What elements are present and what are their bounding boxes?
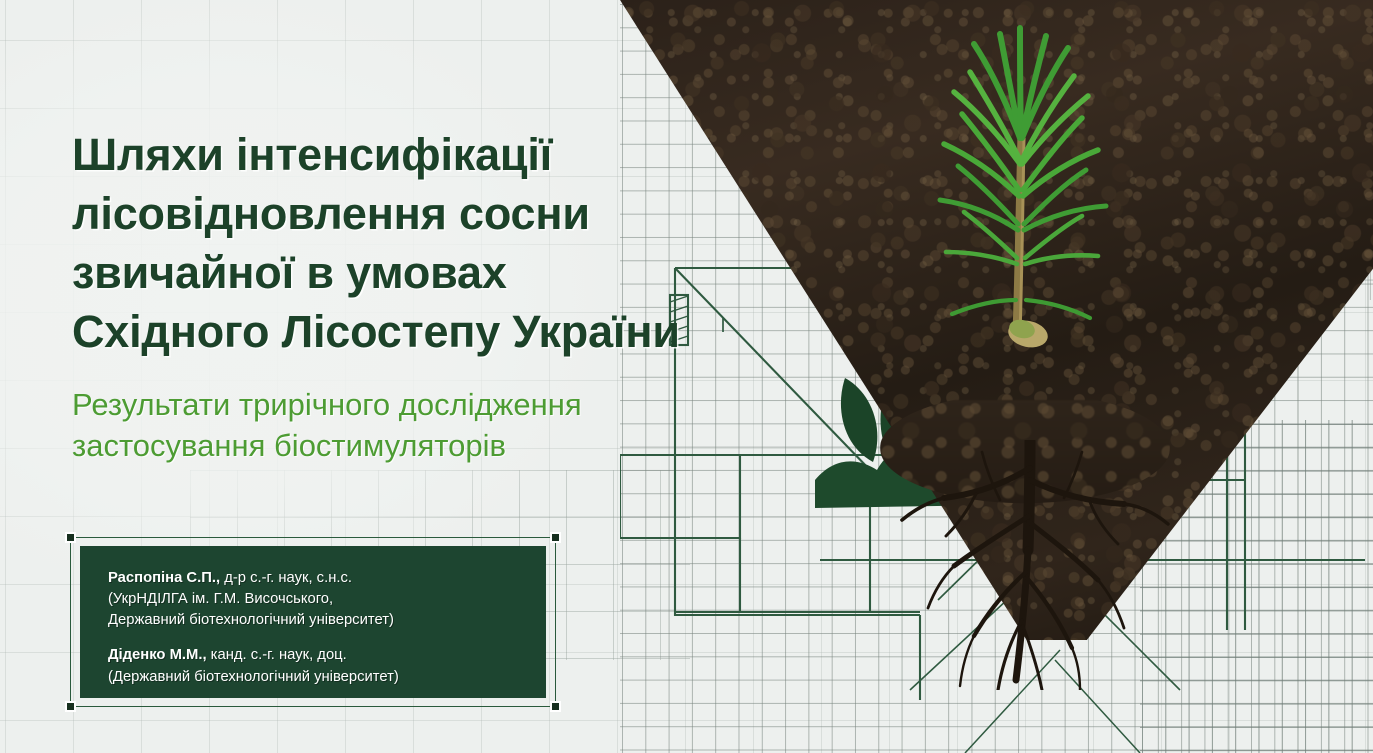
- corner-marker-top-left: [65, 532, 76, 543]
- author-name-2: Діденко М.М.,: [108, 647, 207, 663]
- corner-marker-bottom-right: [550, 701, 561, 712]
- author-entry-2: Діденко М.М., канд. с.-г. наук, доц. (Де…: [108, 645, 520, 687]
- author-entry-1: Распопіна С.П., д-р с.-г. наук, с.н.с. (…: [108, 568, 520, 631]
- author-name-1: Распопіна С.П.,: [108, 570, 220, 586]
- subtitle-line-1: Результати трирічного дослідження: [72, 384, 772, 425]
- author-affiliation-1-line-1: (УкрНДІЛГА ім. Г.М. Височського,: [108, 589, 520, 610]
- page-subtitle: Результати трирічного дослідження застос…: [72, 384, 772, 466]
- corner-marker-bottom-left: [65, 701, 76, 712]
- pine-seedling-icon: [870, 18, 1170, 348]
- corner-marker-top-right: [550, 532, 561, 543]
- title-line-2: лісовідновлення сосни: [72, 185, 772, 244]
- title-slide: Шляхи інтенсифікації лісовідновлення сос…: [0, 0, 1373, 753]
- author-name-line-1: Распопіна С.П., д-р с.-г. наук, с.н.с.: [108, 568, 520, 589]
- root-system-icon: [880, 440, 1180, 690]
- subtitle-line-2: застосування біостимуляторів: [72, 425, 772, 466]
- author-name-line-2: Діденко М.М., канд. с.-г. наук, доц.: [108, 645, 520, 666]
- title-line-1: Шляхи інтенсифікації: [72, 126, 772, 185]
- author-card: Распопіна С.П., д-р с.-г. наук, с.н.с. (…: [80, 546, 546, 698]
- author-affiliation-1-line-2: Державний біотехнологічний університет): [108, 610, 520, 631]
- title-line-4: Східного Лісостепу України: [72, 303, 772, 362]
- author-degree-2: канд. с.-г. наук, доц.: [207, 647, 347, 663]
- page-title: Шляхи інтенсифікації лісовідновлення сос…: [72, 126, 772, 362]
- title-line-3: звичайної в умовах: [72, 244, 772, 303]
- author-affiliation-2-line-1: (Державний біотехнологічний університет): [108, 667, 520, 688]
- author-degree-1: д-р с.-г. наук, с.н.с.: [220, 570, 352, 586]
